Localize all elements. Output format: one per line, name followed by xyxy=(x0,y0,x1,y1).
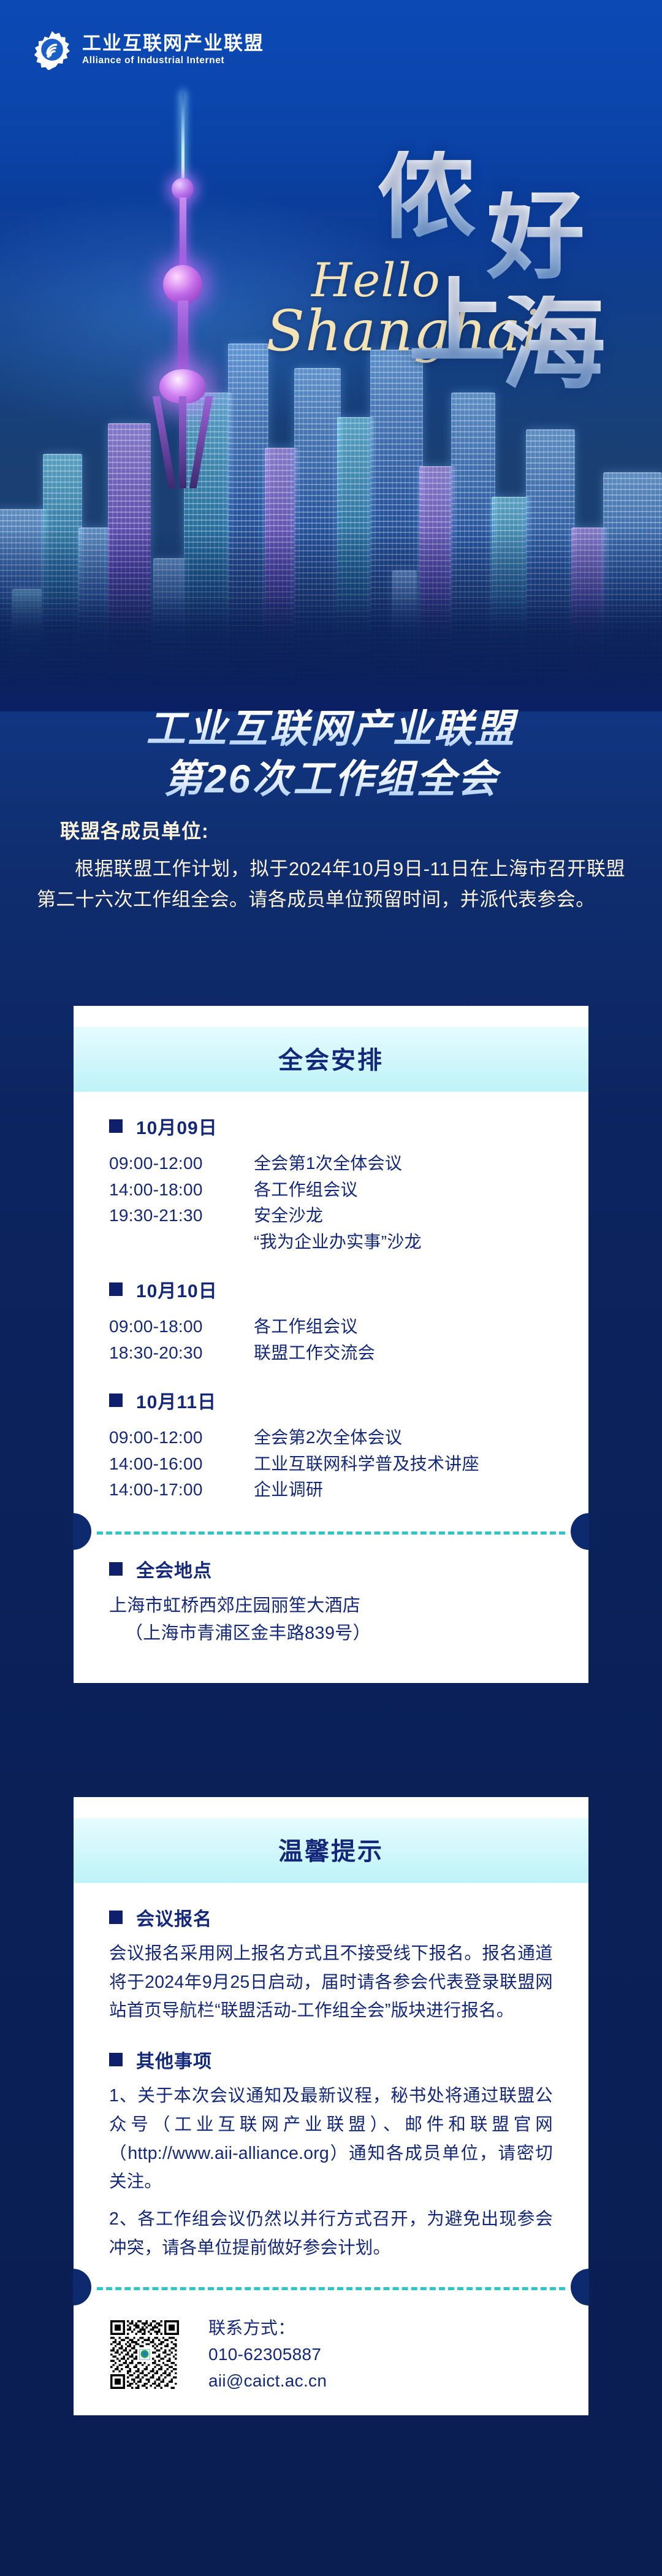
schedule-event: 各工作组会议 xyxy=(254,1314,358,1340)
schedule-row: 09:00-12:00全会第2次全体会议 xyxy=(109,1425,553,1451)
tips-card-scallop-bottom xyxy=(74,2401,588,2415)
schedule-time: 09:00-12:00 xyxy=(109,1151,238,1177)
schedule-day-header: 10月10日 xyxy=(109,1276,553,1303)
bullet-square-icon xyxy=(109,1282,123,1296)
schedule-row: 09:00-12:00全会第1次全体会议 xyxy=(109,1151,553,1177)
bullet-square-icon xyxy=(109,1393,123,1407)
tips-card-body: 会议报名会议报名采用网上报名方式且不接受线下报名。报名通道将于2024年9月25… xyxy=(74,1904,588,2287)
schedule-card-header: 全会安排 xyxy=(74,1027,588,1092)
schedule-time: 14:00-17:00 xyxy=(109,1477,238,1503)
bullet-square-icon xyxy=(109,1562,123,1576)
schedule-sub-event: “我为企业办实事”沙龙 xyxy=(109,1229,422,1255)
brand-logo-bar: 工业互联网产业联盟 Alliance of Industrial Interne… xyxy=(32,29,264,70)
brand-name-en: Alliance of Industrial Internet xyxy=(82,55,264,66)
venue-label: 全会地点 xyxy=(136,1555,212,1582)
venue-title-row: 全会地点 xyxy=(109,1555,553,1582)
schedule-row: 19:30-21:30安全沙龙 xyxy=(109,1203,553,1229)
tips-paragraph: 2、各工作组会议仍然以并行方式召开，为避免出现参会冲突，请各单位提前做好参会计划… xyxy=(109,2205,553,2262)
schedule-event: 各工作组会议 xyxy=(254,1177,358,1203)
schedule-event: 全会第1次全体会议 xyxy=(254,1151,402,1177)
schedule-day-date: 10月11日 xyxy=(136,1387,216,1414)
hero-char-ni: 侬 xyxy=(378,151,476,239)
schedule-card: 全会安排 10月09日09:00-12:00全会第1次全体会议14:00-18:… xyxy=(74,1006,588,1683)
hello-shanghai-headline: Shanghai Hello 侬 好 上 海 xyxy=(255,153,647,411)
tips-heading: 温馨提示 xyxy=(74,1831,588,1867)
schedule-time: 09:00-18:00 xyxy=(109,1314,238,1340)
schedule-day-header: 10月09日 xyxy=(109,1113,553,1140)
card-wave-top xyxy=(74,1006,588,1027)
schedule-day-date: 10月09日 xyxy=(136,1113,218,1140)
tips-card-wave-top xyxy=(74,1797,588,1818)
schedule-subrow: “我为企业办实事”沙龙 xyxy=(109,1229,553,1255)
schedule-row: 09:00-18:00各工作组会议 xyxy=(109,1314,553,1340)
schedule-row-group: 09:00-12:00全会第1次全体会议14:00-18:00各工作组会议19:… xyxy=(109,1151,553,1255)
contact-email[interactable]: aii@caict.ac.cn xyxy=(208,2367,327,2394)
schedule-card-body: 10月09日09:00-12:00全会第1次全体会议14:00-18:00各工作… xyxy=(74,1113,588,1531)
schedule-row: 14:00-18:00各工作组会议 xyxy=(109,1177,553,1203)
salutation: 联盟各成员单位: xyxy=(60,816,209,844)
contact-section: 联系方式： 010-62305887 aii@caict.ac.cn xyxy=(74,2290,588,2401)
tips-section-label: 其他事项 xyxy=(136,2046,212,2073)
schedule-event: 安全沙龙 xyxy=(254,1203,323,1229)
brand-text-block: 工业互联网产业联盟 Alliance of Industrial Interne… xyxy=(82,33,264,67)
contact-label: 联系方式： xyxy=(208,2315,327,2341)
schedule-time: 18:30-20:30 xyxy=(109,1340,238,1367)
schedule-event: 联盟工作交流会 xyxy=(254,1340,375,1367)
schedule-time: 09:00-12:00 xyxy=(109,1425,238,1451)
schedule-event: 企业调研 xyxy=(254,1477,323,1503)
schedule-event: 全会第2次全体会议 xyxy=(254,1425,402,1451)
hero-char-hai: 海 xyxy=(500,296,606,391)
card-scallop-bottom xyxy=(74,1668,588,1683)
schedule-row: 14:00-16:00工业互联网科学普及技术讲座 xyxy=(109,1451,553,1478)
venue-address-line-1: 上海市虹桥西郊庄园丽笙大酒店 xyxy=(109,1592,553,1620)
oriental-pearl-tower-icon xyxy=(146,92,219,485)
hero-char-shang: 上 xyxy=(408,276,506,364)
tips-card-header: 温馨提示 xyxy=(74,1818,588,1883)
schedule-row: 14:00-17:00企业调研 xyxy=(109,1477,553,1503)
gear-wifi-logo-icon xyxy=(32,29,72,70)
bullet-square-icon xyxy=(109,2053,123,2066)
contact-phone[interactable]: 010-62305887 xyxy=(208,2341,327,2367)
qr-code-icon[interactable] xyxy=(110,2320,179,2389)
title-line-2: 第26次工作组全会 xyxy=(0,754,662,805)
venue-section: 全会地点 上海市虹桥西郊庄园丽笙大酒店 （上海市青浦区金丰路839号） xyxy=(74,1555,588,1668)
contact-details: 联系方式： 010-62305887 aii@caict.ac.cn xyxy=(208,2315,327,2394)
title-line-1: 工业互联网产业联盟 xyxy=(0,704,662,754)
schedule-day-header: 10月11日 xyxy=(109,1387,553,1414)
ticket-perforation-line xyxy=(97,1531,565,1535)
bullet-square-icon xyxy=(109,1911,123,1924)
bullet-square-icon xyxy=(109,1119,123,1133)
tips-paragraph: 会议报名采用网上报名方式且不接受线下报名。报名通道将于2024年9月25日启动，… xyxy=(109,1939,553,2025)
tips-paragraph: 1、关于本次会议通知及最新议程，秘书处将通过联盟公众号（工业互联网产业联盟）、邮… xyxy=(109,2082,553,2196)
tips-section-label: 会议报名 xyxy=(136,1904,212,1931)
tips-section-header: 会议报名 xyxy=(109,1904,553,1931)
schedule-event: 工业互联网科学普及技术讲座 xyxy=(254,1451,479,1478)
page-title: 工业互联网产业联盟 第26次工作组全会 xyxy=(0,704,662,805)
schedule-time: 14:00-18:00 xyxy=(109,1177,238,1203)
brand-name-cn: 工业互联网产业联盟 xyxy=(82,33,264,55)
schedule-time: 14:00-16:00 xyxy=(109,1451,238,1478)
tips-section-header: 其他事项 xyxy=(109,2046,553,2073)
schedule-heading: 全会安排 xyxy=(74,1040,588,1076)
venue-address-line-2: （上海市青浦区金丰路839号） xyxy=(109,1620,553,1647)
schedule-row-group: 09:00-12:00全会第2次全体会议14:00-16:00工业互联网科学普及… xyxy=(109,1425,553,1503)
hero-fade-overlay xyxy=(0,527,662,711)
schedule-row-group: 09:00-18:00各工作组会议18:30-20:30联盟工作交流会 xyxy=(109,1314,553,1366)
schedule-time: 19:30-21:30 xyxy=(109,1203,238,1229)
intro-paragraph: 根据联盟工作计划，拟于2024年10月9日-11日在上海市召开联盟第二十六次工作… xyxy=(37,854,625,915)
tips-card: 温馨提示 会议报名会议报名采用网上报名方式且不接受线下报名。报名通道将于2024… xyxy=(74,1797,588,2415)
schedule-row: 18:30-20:30联盟工作交流会 xyxy=(109,1340,553,1367)
schedule-day-date: 10月10日 xyxy=(136,1276,218,1303)
